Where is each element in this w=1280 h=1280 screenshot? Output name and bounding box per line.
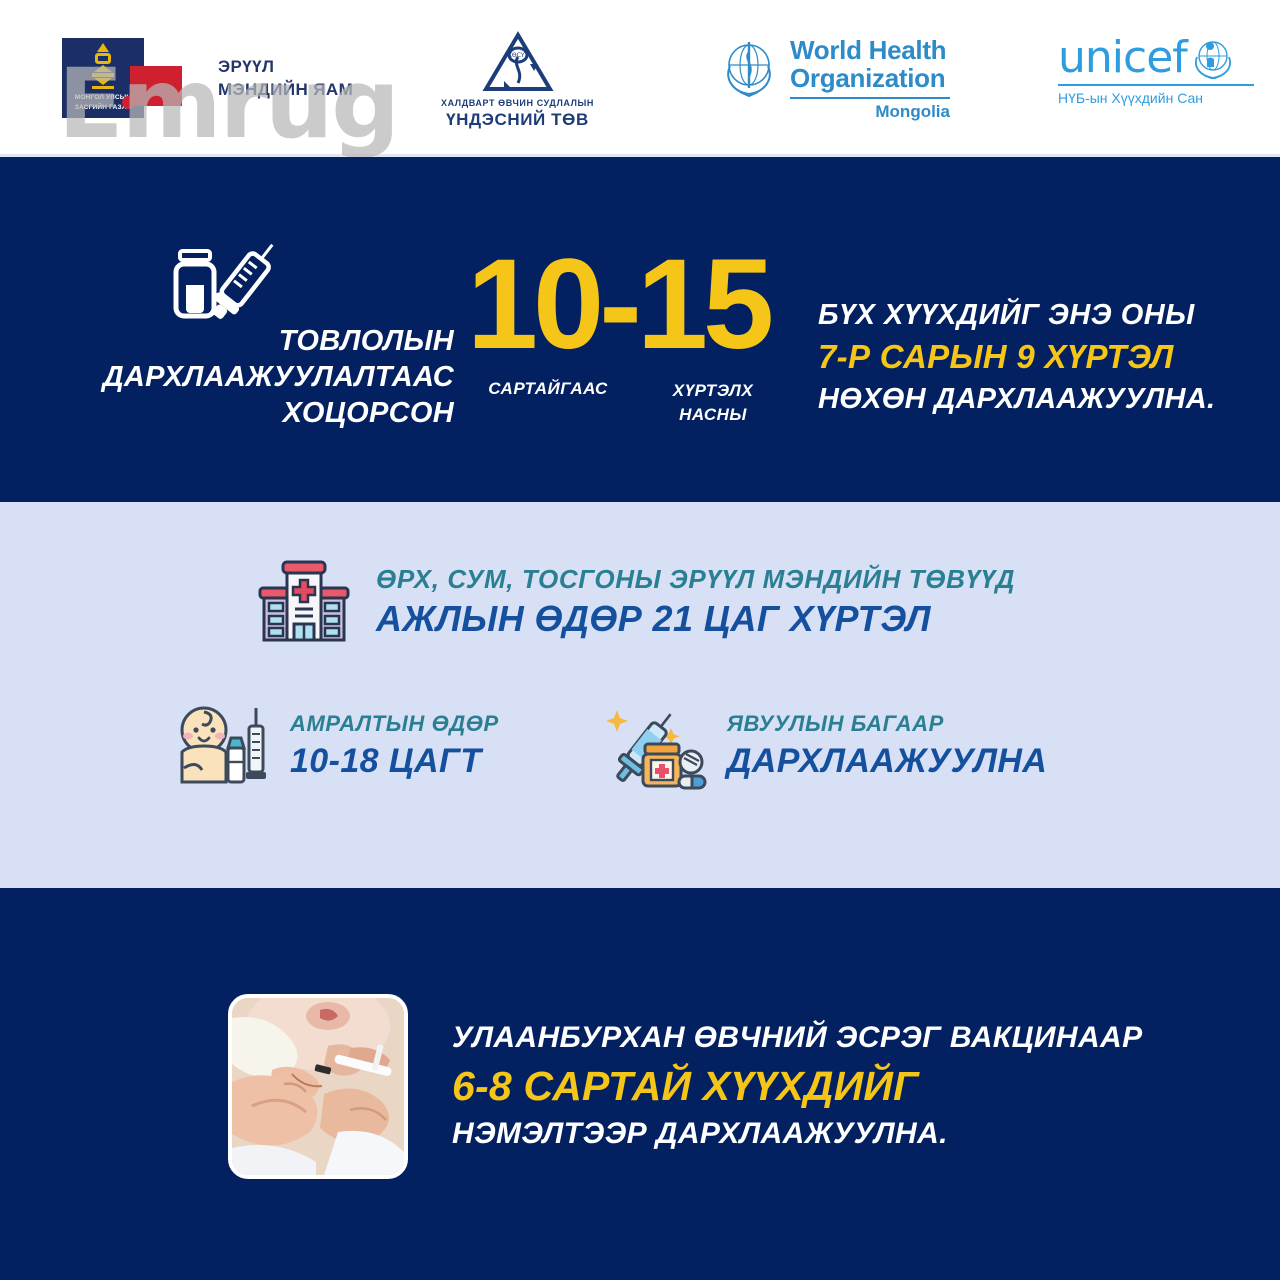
age-range-sub-right-line2: НАСНЫ <box>638 403 788 427</box>
infant-vaccination-photo <box>228 994 408 1179</box>
section-catchup-vaccination: ТОВЛОЛЫН ДАРХЛААЖУУЛАЛТААС ХОЦОРСОН 10-1… <box>0 157 1280 502</box>
logo-world-health-organization: World Health Organization Mongolia <box>718 36 950 122</box>
unicef-emblem-icon <box>1192 37 1234 79</box>
weekday-hours: АЖЛЫН ӨДӨР 21 ЦАГ ХҮРТЭЛ <box>376 596 1015 642</box>
catchup-right-line1: БҮХ ХҮҮХДИЙГ ЭНЭ ОНЫ <box>818 295 1215 335</box>
red-dot-decoration <box>122 96 135 109</box>
unicef-wordmark: unicef <box>1058 36 1187 80</box>
mobile-team-action: ДАРХЛААЖУУЛНА <box>727 739 1047 783</box>
catchup-right-column: БҮХ ХҮҮХДИЙГ ЭНЭ ОНЫ 7-Р САРЫН 9 ХҮРТЭЛ … <box>778 229 1215 419</box>
who-line2: Organization <box>790 64 950 92</box>
baby-syringe-icon <box>170 700 270 792</box>
weekend-hours: 10-18 ЦАГТ <box>290 739 499 783</box>
who-country: Mongolia <box>790 102 950 122</box>
mobile-team-cell: ЯВУУЛЫН БАГААР ДАРХЛААЖУУЛНА <box>607 700 1047 792</box>
measles-line1: УЛААНБУРХАН ӨВЧНИЙ ЭСРЭГ ВАКЦИНААР <box>452 1017 1143 1059</box>
mongolia-government-emblem-icon: МОНГОЛ УЛСЫН ЗАСГИЙН ГАЗАР <box>62 38 144 118</box>
age-range-sub-left: САРТАЙГААС <box>458 379 638 399</box>
infographic-page: Emrug МОНГОЛ УЛСЫН ЗАСГИЙН ГАЗАР <box>0 0 1280 1280</box>
section-measles-extra-dose: УЛААНБУРХАН ӨВЧНИЙ ЭСРЭГ ВАКЦИНААР 6-8 С… <box>0 888 1280 1280</box>
hospital-building-icon <box>256 554 352 650</box>
age-range-sub-right-line1: ХҮРТЭЛХ <box>638 379 788 403</box>
catchup-left-line3: ХОЦОРСОН <box>88 395 454 431</box>
unicef-divider <box>1058 84 1254 86</box>
header-logo-bar: Emrug МОНГОЛ УЛСЫН ЗАСГИЙН ГАЗАР <box>0 0 1280 157</box>
age-range-value: 10-15 <box>458 245 778 365</box>
service-hours-secondary-row: АМРАЛТЫН ӨДӨР 10-18 ЦАГТ <box>0 700 1280 792</box>
measles-line3: НЭМЭЛТЭЭР ДАРХЛААЖУУЛНА. <box>452 1113 1143 1155</box>
mobile-team-text: ЯВУУЛЫН БАГААР ДАРХЛААЖУУЛНА <box>727 709 1047 783</box>
who-emblem-icon <box>718 36 780 98</box>
weekend-hours-cell: АМРАЛТЫН ӨДӨР 10-18 ЦАГТ <box>170 700 499 792</box>
syringe-medicine-pills-icon <box>607 700 707 792</box>
measles-line2: 6-8 САРТАЙ ХҮҮХДИЙГ <box>452 1059 1143 1113</box>
unicef-subtitle: НҮБ-ын Хүүхдийн Сан <box>1058 90 1258 106</box>
logo-ministry-of-health: МОНГОЛ УЛСЫН ЗАСГИЙН ГАЗАР ЭРҮҮЛ МЭНДИЙН… <box>62 38 353 118</box>
cdc-subtitle: ХАЛДВАРТ ӨВЧИН СУДЛАЛЫН <box>430 98 605 108</box>
age-range-sub-right: ХҮРТЭЛХ НАСНЫ <box>638 379 788 427</box>
service-hours-weekday-text: ӨРХ, СУМ, ТОСГОНЫ ЭРҮҮЛ МЭНДИЙН ТӨВҮҮД А… <box>376 562 1015 642</box>
soyombo-symbol-icon <box>90 43 116 89</box>
vaccine-vial-syringe-icon <box>168 233 278 329</box>
catchup-right-line2: 7-Р САРЫН 9 ХҮРТЭЛ <box>818 335 1215 379</box>
age-range-block: 10-15 САРТАЙГААС ХҮРТЭЛХ НАСНЫ <box>458 229 778 425</box>
catchup-left-line2: ДАРХЛААЖУУЛАЛТААС <box>88 359 454 395</box>
catchup-right-line3: НӨХӨН ДАРХЛААЖУУЛНА. <box>818 379 1215 419</box>
catchup-left-column: ТОВЛОЛЫН ДАРХЛААЖУУЛАЛТААС ХОЦОРСОН <box>88 229 458 431</box>
measles-message: УЛААНБУРХАН ӨВЧНИЙ ЭСРЭГ ВАКЦИНААР 6-8 С… <box>452 1017 1143 1155</box>
logo-national-center-communicable-diseases: ХӨСҮТ ХАЛДВАРТ ӨВЧИН СУДЛАЛЫН ҮНДЭСНИЙ Т… <box>430 30 605 130</box>
moh-name-line2: МЭНДИЙН ЯАМ <box>218 78 353 101</box>
moh-name-line1: ЭРҮҮЛ <box>218 55 353 78</box>
weekday-subtitle: ӨРХ, СУМ, ТОСГОНЫ ЭРҮҮЛ МЭНДИЙН ТӨВҮҮД <box>376 562 1015 596</box>
triangle-caduceus-icon: ХӨСҮТ <box>430 30 605 94</box>
section-service-hours: ӨРХ, СУМ, ТОСГОНЫ ЭРҮҮЛ МЭНДИЙН ТӨВҮҮД А… <box>0 502 1280 888</box>
who-wordmark: World Health Organization Mongolia <box>790 36 950 122</box>
ministry-of-health-name: ЭРҮҮЛ МЭНДИЙН ЯАМ <box>218 55 353 101</box>
red-block-decoration <box>130 66 182 106</box>
service-hours-weekday-row: ӨРХ, СУМ, ТОСГОНЫ ЭРҮҮЛ МЭНДИЙН ТӨВҮҮД А… <box>0 554 1280 650</box>
cdc-title: ҮНДЭСНИЙ ТӨВ <box>430 110 605 130</box>
svg-text:ХӨСҮТ: ХӨСҮТ <box>507 52 528 59</box>
who-divider <box>790 97 950 99</box>
weekend-subtitle: АМРАЛТЫН ӨДӨР <box>290 709 499 739</box>
weekend-hours-text: АМРАЛТЫН ӨДӨР 10-18 ЦАГТ <box>290 709 499 783</box>
mobile-team-subtitle: ЯВУУЛЫН БАГААР <box>727 709 1047 739</box>
logo-unicef: unicef НҮБ-ын Хүүхдийн Сан <box>1058 36 1258 106</box>
who-line1: World Health <box>790 36 950 64</box>
